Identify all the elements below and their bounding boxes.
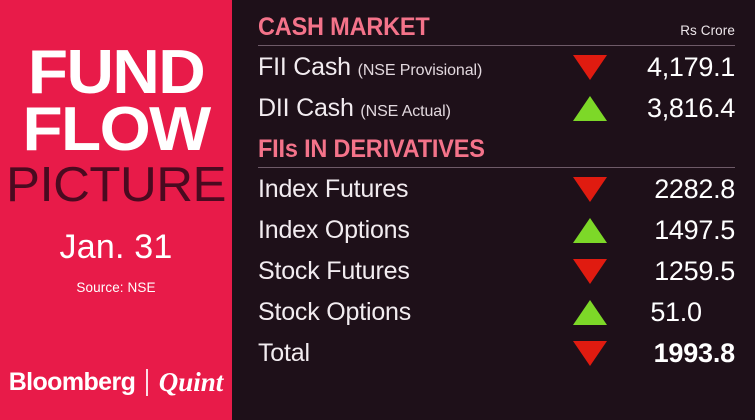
row-value-total: 1993.8 bbox=[617, 338, 735, 369]
title-panel: FUND FLOW PICTURE Jan. 31 Source: NSE Bl… bbox=[0, 0, 232, 420]
direction-indicator-down bbox=[563, 341, 617, 366]
table-row: DII Cash (NSE Actual) 3,816.4 bbox=[258, 88, 735, 129]
table-row: Index Futures 2282.8 bbox=[258, 169, 735, 210]
row-value: 3,816.4 bbox=[617, 93, 735, 124]
title-word-fund: FUND bbox=[0, 44, 239, 101]
triangle-up-icon bbox=[573, 300, 607, 325]
table-row: Stock Futures 1259.5 bbox=[258, 251, 735, 292]
source-label: Source: NSE bbox=[0, 280, 232, 295]
publisher-logo: Bloomberg Quint bbox=[0, 367, 232, 398]
row-value: 1497.5 bbox=[617, 215, 735, 246]
direction-indicator-up bbox=[563, 96, 617, 121]
row-label-qualifier: (NSE Provisional) bbox=[358, 62, 483, 79]
section-divider bbox=[258, 167, 735, 168]
triangle-down-icon bbox=[573, 259, 607, 284]
section-title-cash-market: CASH MARKET bbox=[258, 13, 430, 42]
logo-quint-text: Quint bbox=[159, 367, 224, 398]
row-label-main: DII Cash bbox=[258, 94, 354, 122]
row-label: Index Options bbox=[258, 216, 563, 245]
direction-indicator-up bbox=[563, 218, 617, 243]
title-word-flow: FLOW bbox=[0, 101, 239, 158]
row-label: FII Cash (NSE Provisional) bbox=[258, 53, 563, 82]
section-header: CASH MARKET Rs Crore bbox=[258, 13, 735, 42]
section-fiis-in-derivatives: FIIs IN DERIVATIVES Index Futures 2282.8… bbox=[258, 135, 735, 374]
row-value: 4,179.1 bbox=[617, 52, 735, 83]
table-row: Index Options 1497.5 bbox=[258, 210, 735, 251]
row-value: 51.0 bbox=[617, 297, 735, 328]
row-value: 1259.5 bbox=[617, 256, 735, 287]
title-word-picture: PICTURE bbox=[0, 160, 237, 211]
row-label: DII Cash (NSE Actual) bbox=[258, 94, 563, 123]
direction-indicator-down bbox=[563, 177, 617, 202]
direction-indicator-down bbox=[563, 55, 617, 80]
section-title-derivatives: FIIs IN DERIVATIVES bbox=[258, 135, 485, 164]
row-label: Stock Options bbox=[258, 298, 563, 327]
logo-divider bbox=[146, 369, 148, 396]
triangle-down-icon bbox=[573, 177, 607, 202]
row-label: Index Futures bbox=[258, 175, 563, 204]
row-value: 2282.8 bbox=[617, 174, 735, 205]
triangle-down-icon bbox=[573, 55, 607, 80]
table-row-total: Total 1993.8 bbox=[258, 333, 735, 374]
row-label: Stock Futures bbox=[258, 257, 563, 286]
title-block: FUND FLOW PICTURE Jan. 31 Source: NSE bbox=[0, 44, 232, 295]
section-header: FIIs IN DERIVATIVES bbox=[258, 135, 735, 164]
table-row: FII Cash (NSE Provisional) 4,179.1 bbox=[258, 47, 735, 88]
table-row: Stock Options 51.0 bbox=[258, 292, 735, 333]
row-label: Total bbox=[258, 339, 563, 368]
unit-label: Rs Crore bbox=[680, 23, 735, 38]
report-date: Jan. 31 bbox=[0, 228, 232, 267]
direction-indicator-down bbox=[563, 259, 617, 284]
triangle-up-icon bbox=[573, 96, 607, 121]
fund-flow-infographic: FUND FLOW PICTURE Jan. 31 Source: NSE Bl… bbox=[0, 0, 755, 420]
row-label-qualifier: (NSE Actual) bbox=[360, 103, 450, 120]
direction-indicator-up bbox=[563, 300, 617, 325]
data-panel: CASH MARKET Rs Crore FII Cash (NSE Provi… bbox=[232, 0, 755, 420]
triangle-down-icon bbox=[573, 341, 607, 366]
row-label-main: FII Cash bbox=[258, 53, 351, 81]
section-cash-market: CASH MARKET Rs Crore FII Cash (NSE Provi… bbox=[258, 13, 735, 129]
triangle-up-icon bbox=[573, 218, 607, 243]
logo-bloomberg-text: Bloomberg bbox=[9, 368, 136, 397]
section-divider bbox=[258, 45, 735, 46]
